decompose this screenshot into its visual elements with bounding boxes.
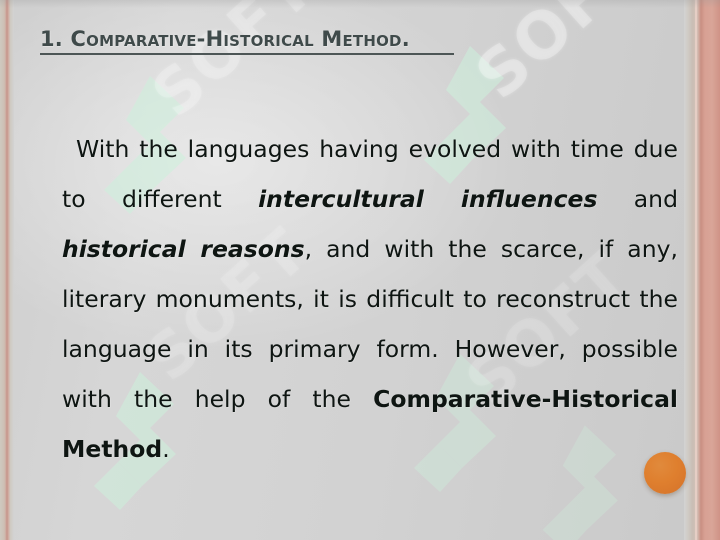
left-accent-line: [6, 0, 8, 540]
top-edge-shadow: [0, 0, 720, 8]
body-block: With the languages having evolved with t…: [62, 124, 678, 474]
body-paragraph: With the languages having evolved with t…: [62, 124, 678, 474]
body-text-segment: and: [597, 185, 678, 213]
title-underline: [40, 53, 454, 55]
orange-bullet-dot: [644, 452, 686, 494]
body-text-segment: .: [162, 435, 169, 463]
body-text-segment: intercultural influences: [258, 185, 597, 213]
right-accent-line: [695, 0, 697, 540]
title-block: 1. Comparative-Historical Method.: [40, 28, 600, 55]
body-text-segment: historical reasons: [62, 235, 305, 263]
page-title: 1. Comparative-Historical Method.: [40, 28, 600, 51]
right-decorative-border: [684, 0, 720, 540]
presentation-slide: SOFT SOFT SOFT SOFT 1. Comparative-Histo…: [0, 0, 720, 540]
